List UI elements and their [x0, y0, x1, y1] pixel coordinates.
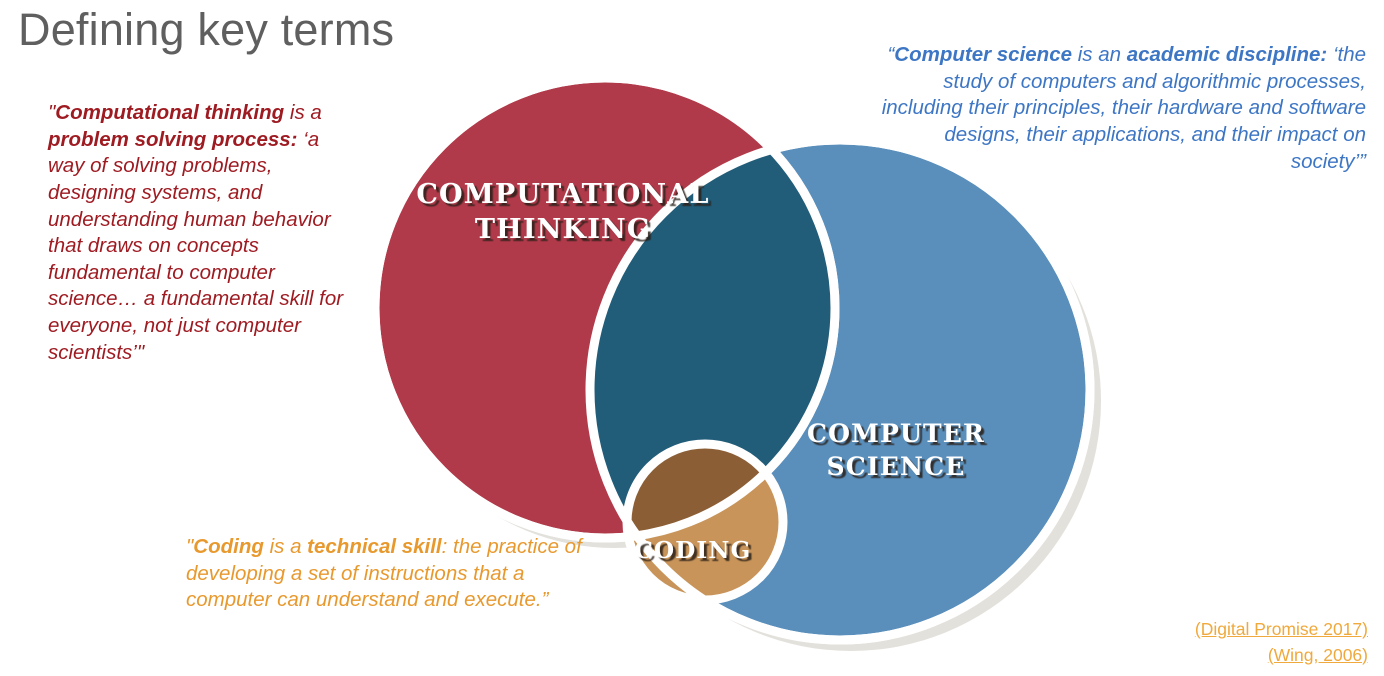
quote-ct-mid: is a [284, 101, 322, 124]
quote-computer-science: “Computer science is an academic discipl… [876, 42, 1366, 175]
label-computational-thinking-line2: THINKING [475, 214, 651, 245]
label-coding: CODING [635, 537, 752, 564]
quote-coding-term2: technical skill [307, 535, 441, 558]
quote-ct-term: Computational thinking [55, 101, 284, 124]
quote-cs-mid: is an [1072, 43, 1127, 66]
label-computer-science-line2: SCIENCE [827, 452, 966, 481]
quote-coding-term: Coding [193, 535, 264, 558]
quote-ct-term2: problem solving process: [48, 128, 297, 151]
label-computational-thinking-line1: COMPUTATIONAL [416, 179, 709, 210]
citation-list: (Digital Promise 2017) (Wing, 2006) [1195, 617, 1368, 668]
quote-cs-term: Computer science [894, 43, 1072, 66]
slide-canvas: Defining key terms [0, 0, 1384, 676]
quote-computational-thinking: "Computational thinking is a problem sol… [48, 100, 358, 366]
citation-link-wing[interactable]: (Wing, 2006) [1195, 643, 1368, 668]
quote-ct-body: ‘a way of solving problems, designing sy… [48, 128, 343, 364]
citation-link-digital-promise[interactable]: (Digital Promise 2017) [1195, 617, 1368, 642]
label-computer-science-line1: COMPUTER [807, 419, 985, 448]
quote-coding-mid: is a [264, 535, 307, 558]
quote-cs-term2: academic discipline: [1127, 43, 1328, 66]
quote-coding: "Coding is a technical skill: the practi… [186, 534, 606, 614]
